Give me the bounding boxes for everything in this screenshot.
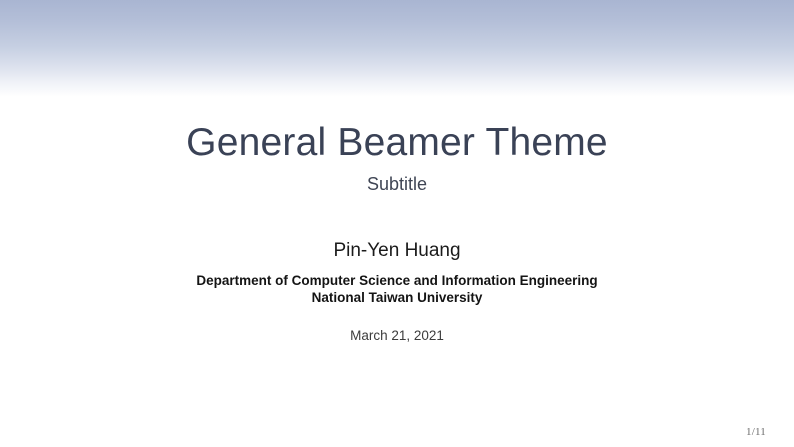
affiliation-line-institution: National Taiwan University (0, 289, 794, 306)
page-number-indicator: 1/11 (746, 426, 766, 438)
affiliation: Department of Computer Science and Infor… (0, 272, 794, 307)
title-block: General Beamer Theme Subtitle Pin-Yen Hu… (0, 0, 794, 447)
presentation-slide: General Beamer Theme Subtitle Pin-Yen Hu… (0, 0, 794, 447)
page-title: General Beamer Theme (0, 122, 794, 165)
presentation-date: March 21, 2021 (0, 328, 794, 344)
affiliation-line-department: Department of Computer Science and Infor… (0, 272, 794, 289)
page-subtitle: Subtitle (0, 174, 794, 196)
author-name: Pin-Yen Huang (0, 240, 794, 263)
